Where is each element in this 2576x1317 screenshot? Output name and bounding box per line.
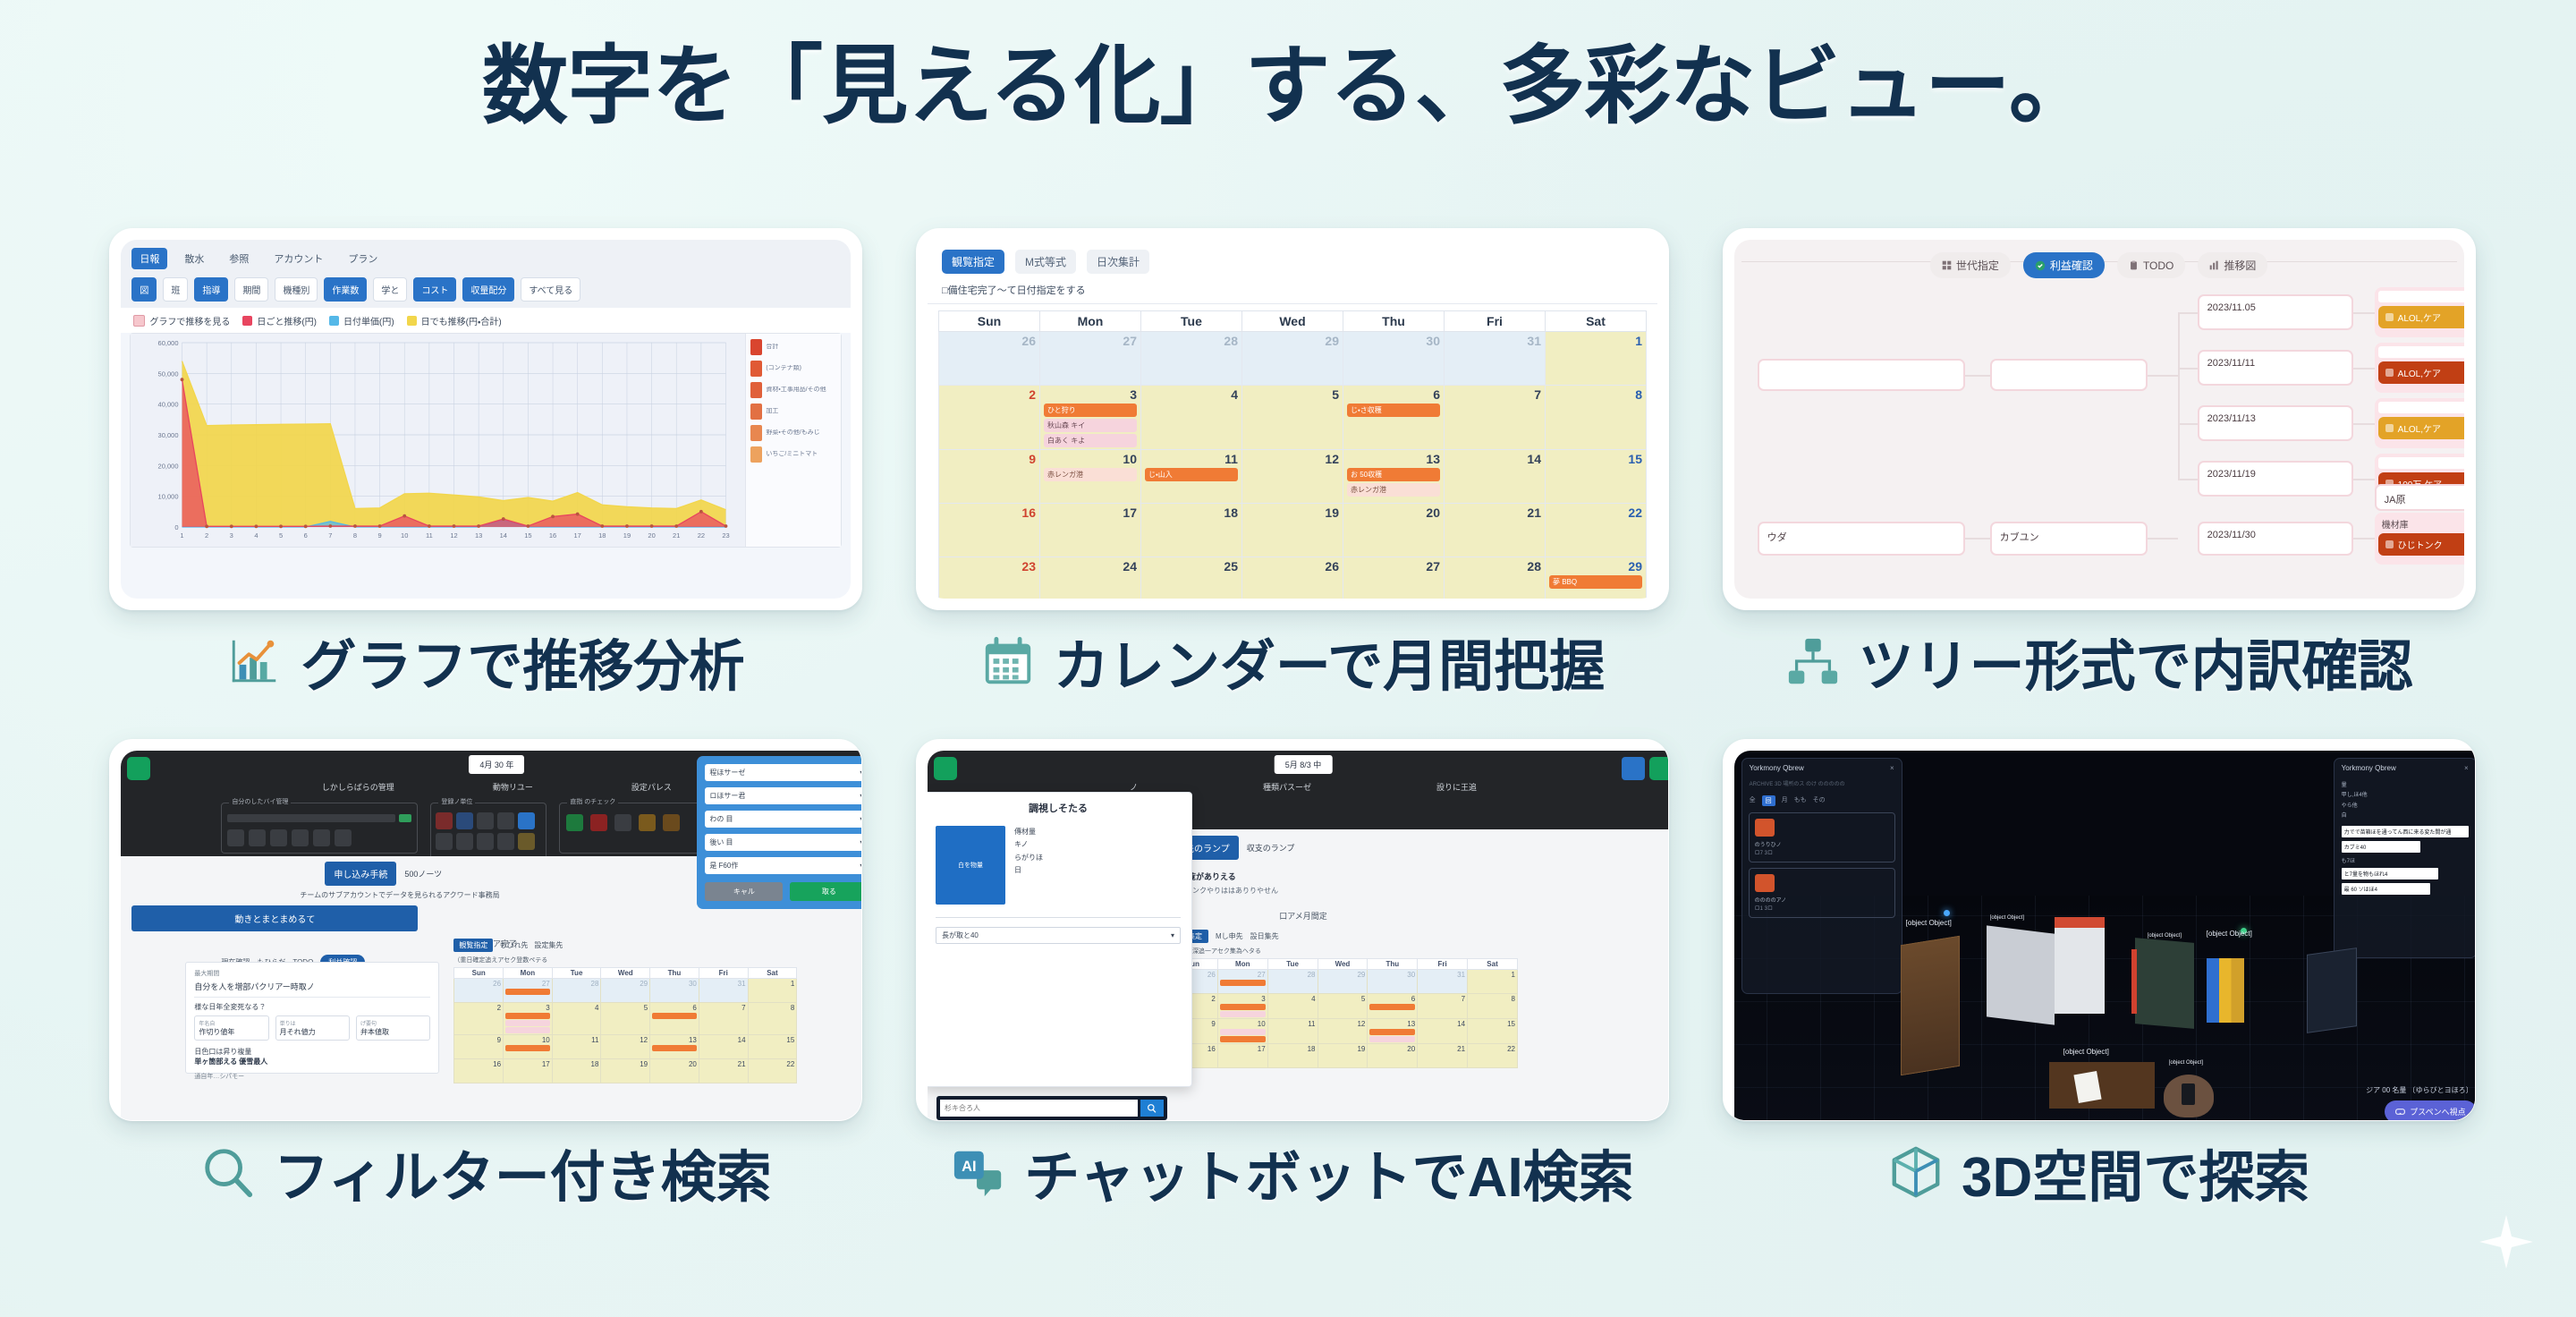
minical-day-cell[interactable]: 22 [1468, 1044, 1518, 1068]
calendar-day-cell[interactable]: 15 [1545, 450, 1646, 504]
minical-day-cell[interactable]: 22 [748, 1059, 797, 1083]
calendar-day-cell[interactable]: 27 [1343, 557, 1444, 599]
filter-h-2[interactable] [477, 812, 494, 829]
hamburger-icon[interactable] [127, 757, 150, 780]
legend-swatch-0 [133, 315, 145, 327]
chat-tab-1[interactable]: 収支のランプ [1247, 842, 1295, 854]
filter-primary-sub: 500ノーツ [404, 868, 442, 879]
minical-day-cell[interactable]: 27 [504, 979, 553, 1003]
minical-day-cell[interactable]: 21 [699, 1059, 748, 1083]
minical-day-cell[interactable]: 12 [1318, 1019, 1368, 1044]
calendar-day-cell[interactable]: 3ひと狩り秋山森 キイ白あく キよ [1039, 386, 1140, 450]
chart-point[interactable] [551, 514, 555, 518]
legend-item-0: グラフで推移を見る [133, 314, 230, 327]
tree-node-bottom-date[interactable]: 2023/11/30 [2198, 522, 2353, 556]
chart-point[interactable] [304, 524, 308, 528]
filter-nav-0[interactable]: しかしらばらの管理 [322, 781, 394, 793]
minical-event-chip[interactable] [505, 1045, 550, 1051]
3d-marker-blue[interactable] [1944, 910, 1950, 916]
minical-day-cell[interactable]: 14 [699, 1035, 748, 1059]
minical-day-cell[interactable]: 30 [650, 979, 699, 1003]
caption-3d: 3D空間で探索 [1888, 1137, 2309, 1207]
graph-tab-2[interactable]: 参照 [221, 248, 257, 269]
tree-node-date-2[interactable]: 2023/11/13 [2198, 405, 2353, 441]
minical-day-cell[interactable]: 17 [504, 1059, 553, 1083]
minical-day-cell[interactable]: 31 [699, 979, 748, 1003]
calendar-day-number: 3 [1044, 387, 1137, 402]
minical-day-cell[interactable]: 2 [454, 1003, 504, 1035]
calendar-wd-1: Mon [1039, 311, 1140, 332]
filter-cal-subtab-2[interactable]: 設定集先 [534, 940, 563, 950]
graph-chip-4[interactable]: 機種別 [275, 277, 318, 302]
filter-h-5[interactable] [436, 833, 453, 850]
3d-object-shelf[interactable] [1901, 936, 1960, 1075]
caption-graph: グラフで推移分析 [227, 626, 744, 696]
calendar-week-row: 2627282930311 [938, 332, 1646, 386]
tag-icon-0 [2385, 313, 2394, 321]
3d-object-books[interactable] [2207, 958, 2244, 1023]
filter-nav-1[interactable]: 動物リユー [493, 781, 533, 793]
filter-big-button[interactable]: 動きとまとまめるて [131, 905, 418, 931]
screenshot-calendar[interactable]: 観覧指定 M式等式 日次集計 □備住宅完了～て日付指定をする Sun Mon T… [916, 228, 1669, 610]
minical-day-cell[interactable]: 29 [601, 979, 650, 1003]
calendar-event-chip[interactable]: お 50収穫 [1347, 468, 1440, 481]
calendar-day-cell[interactable]: 2 [938, 386, 1039, 450]
filter-k-3[interactable] [639, 814, 656, 831]
calendar-day-cell[interactable]: 28 [1444, 557, 1545, 599]
calendar-day-number: 17 [1044, 506, 1137, 520]
3d-left-tab-0[interactable]: 全 [1750, 795, 1756, 806]
filter-h-9[interactable] [518, 833, 535, 850]
filter-pop-submit[interactable]: 取る [790, 882, 862, 901]
minical-day-cell[interactable]: 9 [454, 1035, 504, 1059]
minical-day-cell[interactable]: 15 [1468, 1019, 1518, 1044]
filter-h-0[interactable] [436, 812, 453, 829]
chart-point[interactable] [699, 510, 703, 514]
calendar-day-cell[interactable]: 14 [1444, 450, 1545, 504]
filter-g-5[interactable] [335, 829, 352, 846]
chart-point[interactable] [353, 524, 357, 528]
3d-left-tab-4[interactable]: その [1813, 795, 1826, 806]
tree-tag-1[interactable]: ALOL,ケア [2378, 361, 2464, 384]
minical-day-cell[interactable]: 27 [1217, 970, 1267, 994]
filter-body: 申し込み手続 500ノーツ チームのサブアカウントでデータを見られるアクワード事… [121, 856, 862, 1121]
calendar-day-cell[interactable]: 22 [1545, 504, 1646, 557]
graph-plot-area[interactable]: 010,00020,00030,00040,00050,00060,000123… [131, 334, 745, 547]
chart-point[interactable] [279, 524, 283, 528]
3d-status: ジア 00 名量 〔ゆらびとヨほろ〕 [2366, 1085, 2473, 1095]
calendar-day-cell[interactable]: 27 [1039, 332, 1140, 386]
minical-day-cell[interactable]: 5 [601, 1003, 650, 1035]
calendar-day-cell[interactable]: 25 [1140, 557, 1241, 599]
calendar-day-number: 25 [1145, 559, 1238, 574]
chart-point[interactable] [329, 524, 333, 528]
legend-swatch-1 [242, 316, 252, 326]
caption-graph-label: グラフで推移分析 [301, 621, 744, 701]
3d-object-board-a[interactable] [1987, 925, 2055, 1024]
filter-pop-field-3[interactable]: 後い 目▾ [705, 834, 862, 851]
caption-tree-label: ツリー形式で内訳確認 [1859, 621, 2413, 701]
calendar-event-chip[interactable]: 夢 BBQ [1549, 575, 1642, 589]
3d-object-signboard[interactable] [2307, 947, 2357, 1033]
page-title: 数字を「見える化」する、多彩なビュー。 [0, 34, 2576, 139]
calendar-day-cell[interactable]: 24 [1039, 557, 1140, 599]
side-legend-item-5: いちご/ミニトマト [750, 446, 836, 463]
filter-nav-2[interactable]: 設定パレス [631, 781, 672, 793]
calendar-event-chip[interactable]: 赤レンガ港 [1347, 483, 1440, 497]
caption-calendar: カレンダーで月間把握 [980, 626, 1605, 696]
graph-chip-2[interactable]: 指導 [194, 277, 228, 302]
minical-day-cell[interactable]: 13 [650, 1035, 699, 1059]
chat-cal-subtab-1[interactable]: Mし申先 [1216, 931, 1243, 941]
minical-day-cell[interactable]: 31 [1418, 970, 1468, 994]
tree-tab-0-label: 世代指定 [1956, 258, 1999, 273]
sparkle-icon [2478, 1213, 2535, 1270]
chat-date-pill[interactable]: 5月 8/3 中 [1275, 755, 1333, 774]
tree-tab-2[interactable]: TODO [2117, 252, 2185, 278]
calendar-day-cell[interactable]: 26 [938, 332, 1039, 386]
chart-point[interactable] [428, 524, 431, 528]
minical-day-cell[interactable]: 8 [1468, 994, 1518, 1019]
chart-point[interactable] [601, 524, 605, 528]
calendar-day-cell[interactable]: 16 [938, 504, 1039, 557]
calendar-day-cell[interactable]: 18 [1140, 504, 1241, 557]
minical-event-chip[interactable] [1220, 980, 1266, 986]
graph-tab-3[interactable]: アカウント [266, 248, 331, 269]
tree-node-bottom-b[interactable]: カブユン [1990, 522, 2148, 556]
filter-g-3[interactable] [292, 829, 309, 846]
calendar-tab-1[interactable]: M式等式 [1015, 250, 1076, 274]
tree-tab-0[interactable]: 世代指定 [1930, 252, 2011, 278]
chat-search-input[interactable] [940, 1100, 1138, 1117]
minical-day-cell[interactable]: 5 [1318, 994, 1368, 1019]
tree-node-date-0[interactable]: 2023/11.05 [2198, 294, 2353, 330]
minical-day-cell[interactable]: 28 [552, 979, 601, 1003]
minical-day-cell[interactable]: 3 [504, 1003, 553, 1035]
graph-chip-1[interactable]: 班 [163, 277, 188, 302]
filter-field-1[interactable]: 単りは 月それ値力 [275, 1015, 350, 1041]
3d-left-tab-2[interactable]: 月 [1782, 795, 1788, 806]
minical-day-cell[interactable]: 12 [601, 1035, 650, 1059]
filter-wd-4: Thu [650, 968, 699, 979]
filter-minical: Sun Mon Tue Wed Thu Fri Sat 262728293031… [453, 967, 797, 1083]
filter-k-0[interactable] [566, 814, 583, 831]
filter-field-0[interactable]: 年名自 作切り値年 [194, 1015, 268, 1041]
chat-nav-2[interactable]: 設りに王追 [1436, 781, 1477, 793]
graph-chip-5[interactable]: 作業数 [324, 277, 367, 302]
chart-point[interactable] [502, 517, 505, 521]
calendar-event-chip[interactable]: 秋山森 キイ [1044, 419, 1137, 432]
filter-minical-body: 2627282930311234567891011121314151617181… [454, 979, 797, 1083]
minical-event-chip[interactable] [1220, 1036, 1266, 1042]
minical-event-chip[interactable] [505, 989, 550, 995]
feature-card-graph: 日報 散水 参照 アカウント プラン 図 班 指導 期間 機種別 作業数 [107, 228, 865, 696]
minical-day-cell[interactable]: 18 [1267, 1044, 1318, 1068]
calendar-day-cell[interactable]: 26 [1241, 557, 1343, 599]
filter-pop-field-0[interactable]: 程ほサーゼ▾ [705, 764, 862, 781]
3d-left-tab-3[interactable]: もも [1794, 795, 1807, 806]
calendar-event-chip[interactable]: 赤レンガ港 [1044, 468, 1137, 481]
graph-tab-0[interactable]: 日報 [131, 248, 167, 269]
filter-cal-subtab-1[interactable]: もひれ先 [499, 940, 528, 950]
3d-left-item-1[interactable]: ののののアノ ロ1 3ロ [1749, 868, 1895, 918]
minical-event-chip[interactable] [652, 1013, 697, 1019]
calendar-day-cell[interactable]: 8 [1545, 386, 1646, 450]
calendar-day-number: 18 [1145, 506, 1238, 520]
graph-tab-1[interactable]: 散水 [176, 248, 212, 269]
screenshot-chat[interactable]: 5月 8/3 中 ノ 種類パスーゼ 設りに王追 最先のランプ 収支のランプ [916, 739, 1669, 1121]
calendar-day-cell[interactable]: 17 [1039, 504, 1140, 557]
tree-node-date-3[interactable]: 2023/11/19 [2198, 461, 2353, 497]
calendar-day-cell[interactable]: 12 [1241, 450, 1343, 504]
legend-swatch-3 [407, 316, 417, 326]
chatbot-select[interactable]: 長が取と40 ▾ [936, 927, 1181, 944]
minical-day-cell[interactable]: 30 [1368, 970, 1418, 994]
3d-left-item-0[interactable]: のうりひノ ロ7 3ロ [1749, 812, 1895, 862]
calendar-day-cell[interactable]: 7 [1444, 386, 1545, 450]
minical-event-chip[interactable] [1369, 1029, 1415, 1035]
filter-form-question: 様な日年全変死なる？ [194, 998, 430, 1015]
filter-date-pill[interactable]: 4月 30 年 [469, 755, 524, 774]
chatbot-line-0: 傳材量 [1014, 826, 1043, 838]
calendar-day-cell[interactable]: 11じ・山入 [1140, 450, 1241, 504]
calendar-day-cell[interactable]: 23 [938, 557, 1039, 599]
chart-point[interactable] [230, 524, 233, 528]
calendar-event-chip[interactable]: ひと狩り [1044, 404, 1137, 417]
minical-event-chip[interactable] [1369, 1004, 1415, 1010]
minical-day-cell[interactable]: 6 [650, 1003, 699, 1035]
3d-left-item-0-name: のうりひノ [1755, 840, 1889, 848]
minical-day-cell[interactable]: 10 [1217, 1019, 1267, 1044]
calendar-icon-chat[interactable] [1649, 757, 1669, 780]
3d-object-board-b[interactable] [2055, 917, 2105, 1014]
filter-pop-cancel[interactable]: キャル [705, 882, 783, 901]
minical-day-cell[interactable]: 26 [454, 979, 504, 1003]
graph-chip-8[interactable]: 収量配分 [462, 277, 514, 302]
filter-h-8[interactable] [497, 833, 514, 850]
side-legend-item-4: 野菜・その他/もみじ [750, 425, 836, 441]
tree-tag-2[interactable]: ALOL,ケア [2378, 417, 2464, 439]
minical-day-cell[interactable]: 1 [748, 979, 797, 1003]
tree-tab-1[interactable]: 利益確認 [2023, 252, 2105, 278]
calendar-day-cell[interactable]: 6じ・さ収穫 [1343, 386, 1444, 450]
chart-point[interactable] [675, 524, 679, 528]
space3d-view[interactable]: Yorkmony Qbrew × ARCHIVE 3D 場所のス のけ のののの… [1734, 751, 2476, 1121]
screenshot-3d[interactable]: Yorkmony Qbrew × ARCHIVE 3D 場所のス のけ のののの… [1723, 739, 2476, 1121]
side-legend-item-1: (コンテナ類) [750, 361, 836, 377]
graph-side-legend: 合計 (コンテナ類) 資材・工事用品/その他 [745, 334, 841, 547]
filter-h-6[interactable] [456, 833, 473, 850]
calendar-day-cell[interactable]: 9 [938, 450, 1039, 504]
tree-tag-bottom[interactable]: ひじトンク [2378, 533, 2464, 556]
chart-point[interactable] [478, 524, 481, 528]
minical-day-cell[interactable]: 19 [1318, 1044, 1368, 1068]
filter-cal-subtab-0[interactable]: 観覧指定 [453, 939, 493, 952]
graph-chip-6[interactable]: 学と [373, 277, 407, 302]
calendar-tab-2[interactable]: 日次集計 [1087, 250, 1149, 274]
3d-left-tab-1[interactable]: 回 [1762, 795, 1775, 806]
chart-point[interactable] [650, 524, 654, 528]
chat-search-button[interactable] [1140, 1100, 1164, 1117]
calendar-day-cell[interactable]: 1 [1545, 332, 1646, 386]
calendar-day-cell[interactable]: 29夢 BBQ [1545, 557, 1646, 599]
chart-point[interactable] [181, 378, 184, 381]
tree-tab-3[interactable]: 推移図 [2198, 252, 2267, 278]
minical-day-cell[interactable]: 3 [1217, 994, 1267, 1019]
graph-tab-4[interactable]: プラン [340, 248, 386, 269]
filter-g-2[interactable] [270, 829, 287, 846]
minical-day-cell[interactable]: 11 [552, 1035, 601, 1059]
tag-icon-1 [2385, 369, 2394, 377]
minical-day-cell[interactable]: 4 [1267, 994, 1318, 1019]
filter-k-4[interactable] [663, 814, 680, 831]
tree-node-bottom-a[interactable]: ウダ [1758, 522, 1965, 556]
hamburger-icon-chat[interactable] [934, 757, 957, 780]
screenshot-filter[interactable]: 4月 30 年 しかしらばらの管理 動物リユー 設定パレス 自分のしたバイ管理 [109, 739, 862, 1121]
minical-day-cell[interactable]: 20 [1368, 1044, 1418, 1068]
graph-chip-3[interactable]: 期間 [234, 277, 268, 302]
calendar-event-chip[interactable]: じ・山入 [1145, 468, 1238, 481]
minical-day-cell[interactable]: 7 [1418, 994, 1468, 1019]
graph-chip-9[interactable]: すべて見る [521, 277, 580, 302]
calendar-wd-5: Fri [1444, 311, 1545, 332]
screenshot-tree[interactable]: 世代指定 利益確認 TODO 推移図 [1723, 228, 2476, 610]
chart-point[interactable] [378, 524, 382, 528]
calendar-day-cell[interactable]: 20 [1343, 504, 1444, 557]
calendar-day-cell[interactable]: 5 [1241, 386, 1343, 450]
chart-point[interactable] [724, 524, 728, 528]
minical-day-cell[interactable]: 17 [1217, 1044, 1267, 1068]
chart-xtick-label: 9 [378, 531, 382, 540]
calendar-tab-0[interactable]: 観覧指定 [942, 250, 1004, 274]
calendar-day-cell[interactable]: 21 [1444, 504, 1545, 557]
calendar-week-row: 910赤レンガ港11じ・山入1213お 50収穫赤レンガ港1415 [938, 450, 1646, 504]
tree-tag-0[interactable]: ALOL,ケア [2378, 306, 2464, 328]
tree-tag-2-label: ALOL,ケア [2398, 421, 2441, 435]
minical-event-chip[interactable] [1220, 1029, 1266, 1035]
calendar-event-chip[interactable]: じ・さ収穫 [1347, 404, 1440, 417]
minical-day-cell[interactable]: 4 [552, 1003, 601, 1035]
screenshot-graph[interactable]: 日報 散水 参照 アカウント プラン 図 班 指導 期間 機種別 作業数 [109, 228, 862, 610]
calendar-day-cell[interactable]: 10赤レンガ港 [1039, 450, 1140, 504]
graph-chip-7[interactable]: コスト [413, 277, 456, 302]
graph-chip-0[interactable]: 図 [131, 277, 157, 302]
minical-day-cell[interactable]: 18 [552, 1059, 601, 1083]
close-icon-left[interactable]: × [1890, 764, 1894, 772]
user-icon-chat[interactable] [1622, 757, 1645, 780]
minical-day-cell[interactable]: 28 [1267, 970, 1318, 994]
minical-day-cell[interactable]: 19 [601, 1059, 650, 1083]
filter-g-0[interactable] [227, 829, 244, 846]
chat-input-bar[interactable] [936, 1096, 1167, 1120]
calendar-day-cell[interactable]: 4 [1140, 386, 1241, 450]
filter-primary-button[interactable]: 申し込み手続 [325, 862, 396, 886]
chart-point[interactable] [255, 524, 258, 528]
tree-node-bottom-head[interactable]: JA原 [2375, 484, 2464, 511]
3d-right-value-0: 力でで苗箱ほを通ってん西に来る変た間が通 [2342, 826, 2469, 837]
minical-event-chip[interactable] [505, 1020, 550, 1026]
filter-field-0-value: 作切り値年 [199, 1027, 264, 1037]
minical-day-cell[interactable]: 10 [504, 1035, 553, 1059]
chart-point[interactable] [403, 514, 407, 518]
chart-point[interactable] [206, 524, 209, 528]
3d-object-greenboard[interactable] [2135, 938, 2194, 1029]
filter-pop-field-3-label: 後い 目 [709, 837, 733, 847]
filter-wd-0: Sun [454, 968, 504, 979]
filter-field-2[interactable]: げ要句 弁本値取 [356, 1015, 430, 1041]
minical-day-cell[interactable]: 21 [1418, 1044, 1468, 1068]
minical-event-chip[interactable] [1220, 1004, 1266, 1010]
tree-node-date-1[interactable]: 2023/11/11 [2198, 350, 2353, 386]
calendar-day-cell[interactable]: 30 [1343, 332, 1444, 386]
chart-point[interactable] [453, 524, 456, 528]
chart-ytick-label: 30,000 [158, 431, 179, 439]
chart-icon [2209, 260, 2219, 270]
filter-k-1[interactable] [590, 814, 607, 831]
minical-event-chip[interactable] [1369, 1036, 1415, 1042]
minical-day-cell[interactable]: 8 [748, 1003, 797, 1035]
chart-point[interactable] [576, 513, 580, 516]
calendar-day-cell[interactable]: 31 [1444, 332, 1545, 386]
3d-object-table[interactable] [2049, 1062, 2155, 1109]
filter-pop-field-2[interactable]: わの 目▾ [705, 811, 862, 828]
minical-day-cell[interactable]: 16 [454, 1059, 504, 1083]
minical-event-chip[interactable] [1220, 1011, 1266, 1017]
filter-h-1[interactable] [456, 812, 473, 829]
filter-k-2[interactable] [614, 814, 631, 831]
filter-h-4[interactable] [518, 812, 535, 829]
calendar-day-cell[interactable]: 29 [1241, 332, 1343, 386]
chat-nav-1[interactable]: 種類パスーゼ [1263, 781, 1311, 793]
3d-vr-button[interactable]: プスペンへ視点 [2385, 1100, 2475, 1121]
minical-day-cell[interactable]: 11 [1267, 1019, 1318, 1044]
filter-g-4[interactable] [313, 829, 330, 846]
close-icon-right[interactable]: × [2464, 764, 2469, 772]
filter-h-7[interactable] [477, 833, 494, 850]
minical-day-cell[interactable]: 1 [1468, 970, 1518, 994]
minical-event-chip[interactable] [505, 1013, 550, 1019]
minical-day-cell[interactable]: 29 [1318, 970, 1368, 994]
minical-day-cell[interactable]: 14 [1418, 1019, 1468, 1044]
minical-day-cell[interactable]: 6 [1368, 994, 1418, 1019]
calendar-day-number: 8 [1549, 387, 1642, 402]
minical-day-cell[interactable]: 7 [699, 1003, 748, 1035]
minical-day-cell[interactable]: 20 [650, 1059, 699, 1083]
minical-event-chip[interactable] [652, 1045, 697, 1051]
tree-node-root-a[interactable] [1758, 359, 1965, 391]
graph-plot-wrapper: 010,00020,00030,00040,00050,00060,000123… [130, 333, 842, 548]
calendar-day-cell[interactable]: 19 [1241, 504, 1343, 557]
calendar-event-chip[interactable]: 白あく キよ [1044, 434, 1137, 447]
minical-day-cell[interactable]: 13 [1368, 1019, 1418, 1044]
filter-pop-field-4[interactable]: 是 F60作▾ [705, 857, 862, 874]
chart-point[interactable] [527, 524, 530, 528]
tag-icon-bottom [2385, 540, 2394, 548]
calendar-day-cell[interactable]: 28 [1140, 332, 1241, 386]
filter-pop-field-1[interactable]: ロほサー君▾ [705, 787, 862, 804]
calendar-subtitle: □備住宅完了～て日付指定をする [928, 279, 1657, 304]
chart-point[interactable] [625, 524, 629, 528]
calendar-day-cell[interactable]: 13お 50収穫赤レンガ港 [1343, 450, 1444, 504]
minical-day-cell[interactable]: 15 [748, 1035, 797, 1059]
tree-link-t1 [2351, 368, 2375, 370]
filter-g-1[interactable] [249, 829, 266, 846]
minical-event-chip[interactable] [505, 1027, 550, 1033]
tree-node-root-b[interactable] [1990, 359, 2148, 391]
filter-h-3[interactable] [497, 812, 514, 829]
side-swatch-5 [750, 446, 762, 463]
chat-cal-subtab-2[interactable]: 設日集先 [1250, 931, 1279, 941]
